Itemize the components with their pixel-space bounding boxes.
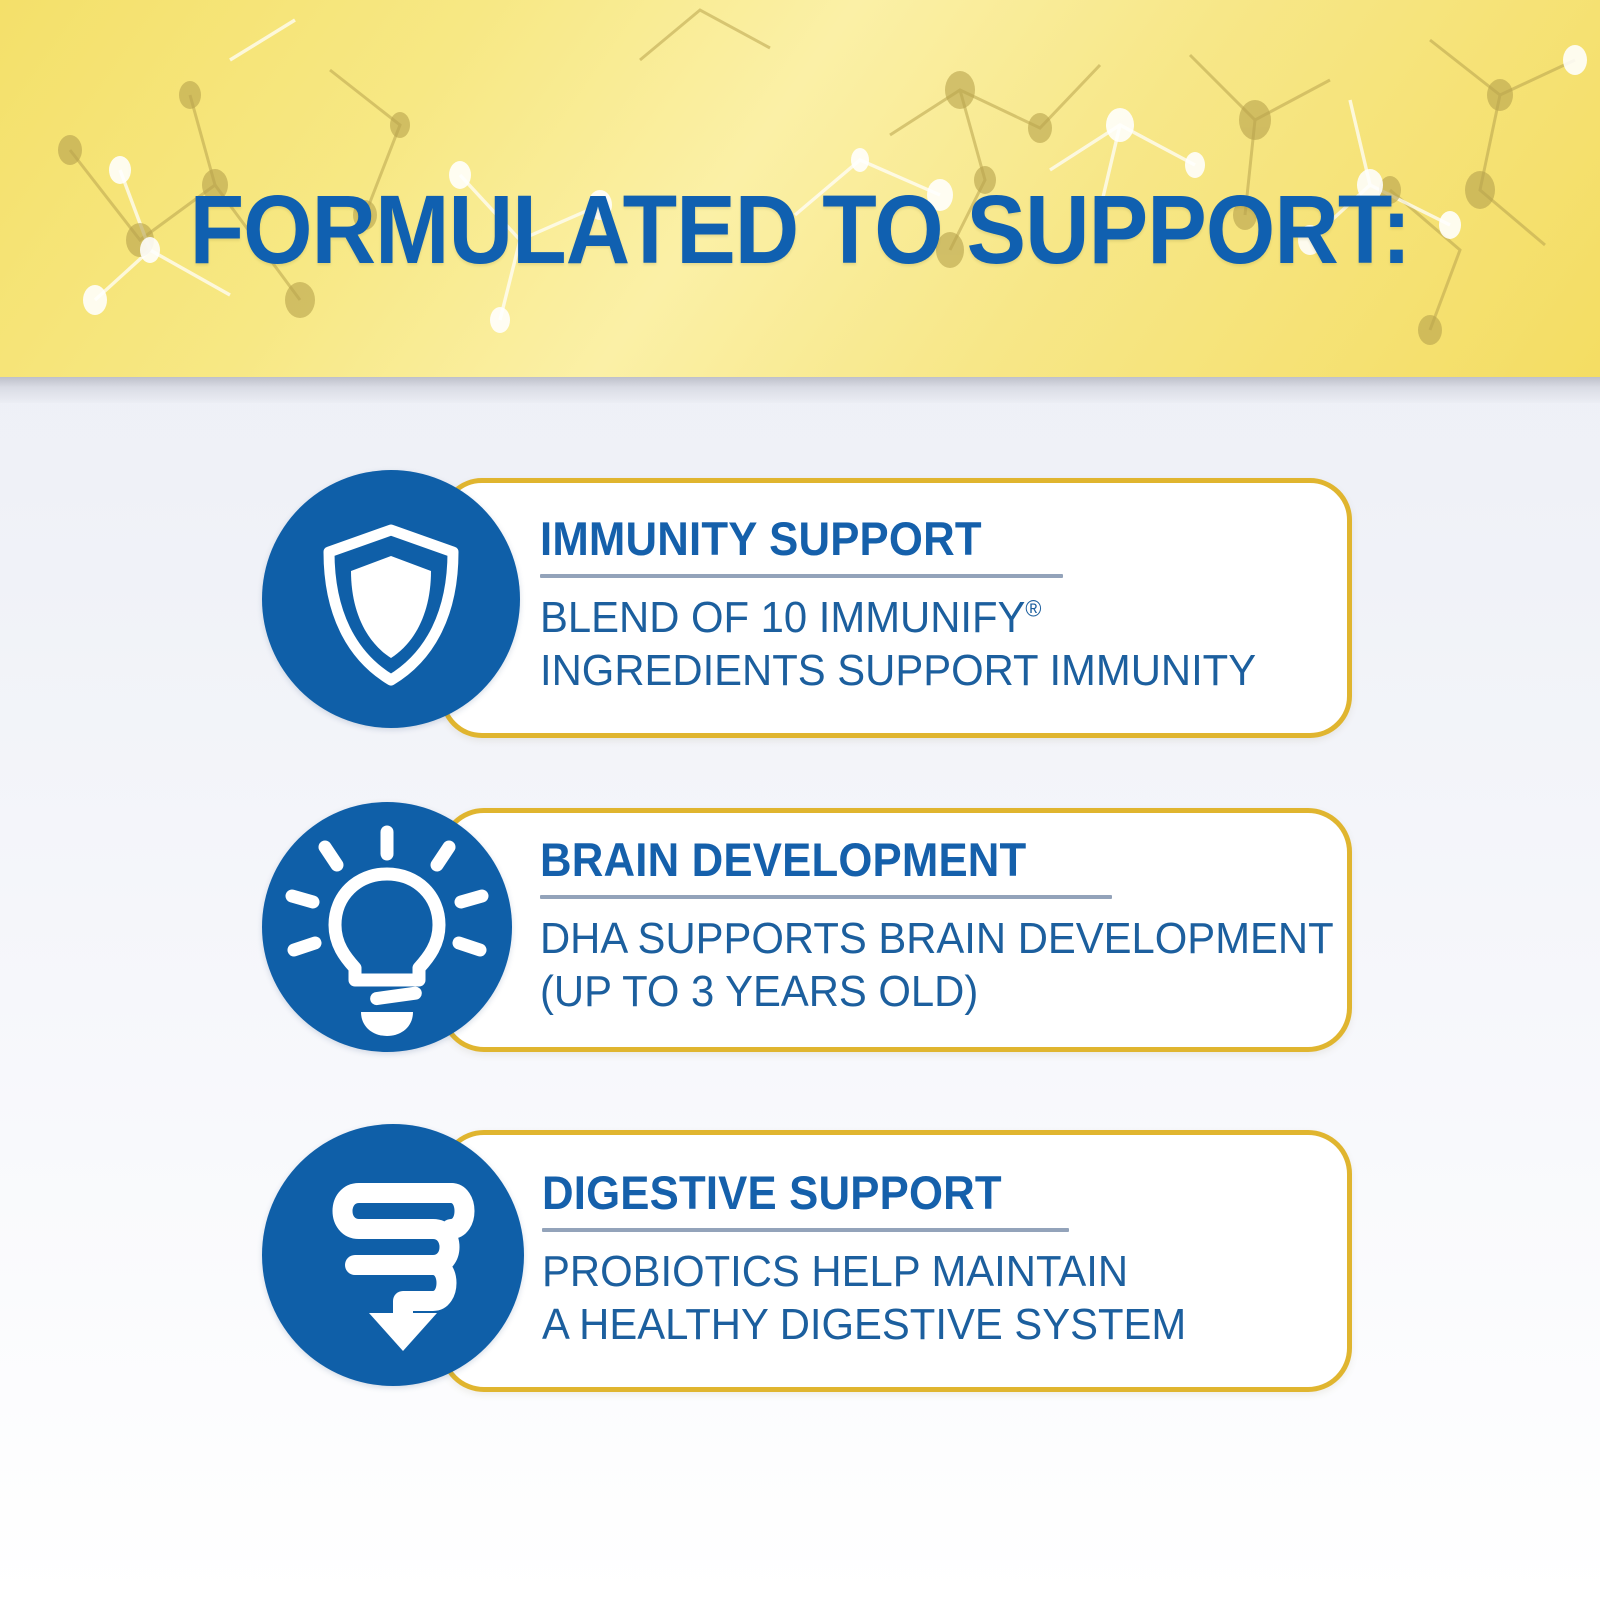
- card-body-line-2: (UP TO 3 YEARS OLD): [540, 965, 1279, 1018]
- card-body-line-1: PROBIOTICS HELP MAINTAIN: [542, 1245, 1279, 1298]
- lightbulb-icon: [262, 802, 512, 1052]
- registered-trademark-symbol: ®: [1025, 595, 1041, 621]
- card-text-block: DIGESTIVE SUPPORT PROBIOTICS HELP MAINTA…: [542, 1116, 1318, 1396]
- benefit-card-digestive[interactable]: DIGESTIVE SUPPORT PROBIOTICS HELP MAINTA…: [262, 1116, 1352, 1396]
- card-heading: IMMUNITY SUPPORT: [540, 515, 1264, 563]
- card-text-block: BRAIN DEVELOPMENT DHA SUPPORTS BRAIN DEV…: [540, 800, 1318, 1052]
- card-body-line-1: BLEND OF 10 IMMUNIFY®: [540, 591, 1279, 644]
- heading-underline: [542, 1228, 1069, 1232]
- card-body-line-2: INGREDIENTS SUPPORT IMMUNITY: [540, 644, 1279, 697]
- digestive-tract-icon: [262, 1124, 524, 1386]
- benefit-card-immunity[interactable]: IMMUNITY SUPPORT BLEND OF 10 IMMUNIFY® I…: [262, 470, 1352, 738]
- heading-underline: [540, 895, 1112, 899]
- card-body-line-2: A HEALTHY DIGESTIVE SYSTEM: [542, 1298, 1279, 1351]
- body-text: BLEND OF 10 IMMUNIFY: [540, 593, 1025, 642]
- shield-icon: [262, 470, 520, 728]
- heading-underline: [540, 574, 1063, 578]
- benefit-card-brain[interactable]: BRAIN DEVELOPMENT DHA SUPPORTS BRAIN DEV…: [262, 800, 1352, 1052]
- card-body-line-1: DHA SUPPORTS BRAIN DEVELOPMENT: [540, 912, 1279, 965]
- card-heading: DIGESTIVE SUPPORT: [542, 1169, 1264, 1217]
- card-heading: BRAIN DEVELOPMENT: [540, 836, 1264, 884]
- card-text-block: IMMUNITY SUPPORT BLEND OF 10 IMMUNIFY® I…: [540, 470, 1318, 738]
- benefit-cards-list: IMMUNITY SUPPORT BLEND OF 10 IMMUNIFY® I…: [0, 0, 1600, 1600]
